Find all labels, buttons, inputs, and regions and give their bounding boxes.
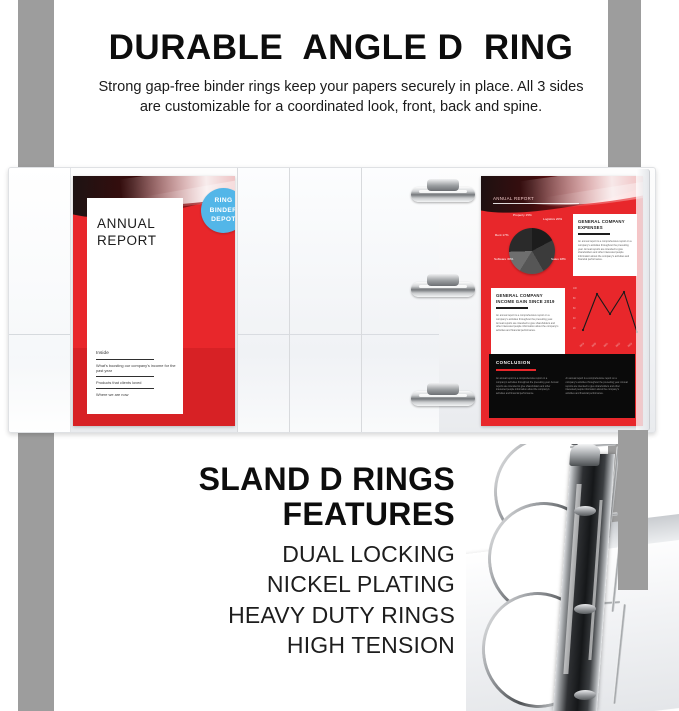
x-tick-label: 2020 [591, 342, 597, 348]
x-tick-label: 2023 [627, 342, 633, 348]
badge-line-2: BINDER [210, 206, 235, 216]
toc-rule [96, 388, 154, 389]
pie-slice-label: Rent 17% [495, 234, 509, 238]
info-page-eyebrow: ANNUAL REPORT [493, 196, 534, 201]
y-tick-label: 60 [573, 308, 576, 310]
feature-item: HEAVY DUTY RINGS [40, 600, 455, 630]
y-tick-label: 100 [573, 288, 577, 290]
features-list: DUAL LOCKING NICKEL PLATING HEAVY DUTY R… [40, 539, 455, 660]
cover-table-of-contents: Inside What's boosting our company's inc… [96, 350, 176, 397]
toc-item: What's boosting our company's income for… [96, 363, 176, 373]
headline-subtitle: Strong gap-free binder rings keep your p… [96, 77, 586, 118]
annual-report-cover: ANNUAL REPORT Inside What's boosting our… [73, 176, 235, 426]
d-ring-3 [407, 382, 479, 416]
badge-line-3: DEPOT [211, 215, 235, 225]
conclusion-heading: CONCLUSION [496, 360, 628, 365]
expenses-card-rule [578, 233, 610, 235]
toc-label: Inside [96, 350, 176, 356]
toc-rule [96, 359, 154, 360]
income-card-heading: GENERAL COMPANY INCOME GAIN SINCE 2019 [496, 293, 560, 304]
conclusion-rule [496, 369, 536, 371]
feature-item: HIGH TENSION [40, 630, 455, 660]
open-binder: ANNUAL REPORT Inside What's boosting our… [8, 167, 656, 433]
gray-bar-right-top [608, 0, 641, 128]
ring-binder-depot-badge: RING BINDER DEPOT [201, 188, 235, 233]
toc-rule [96, 376, 154, 377]
pie-slice-label: Property 15% [513, 214, 532, 218]
info-page-rule [493, 203, 579, 204]
y-tick-label: 40 [573, 318, 576, 320]
clear-spine-panel-2 [289, 168, 361, 432]
d-ring-2 [407, 273, 479, 307]
clear-overlay-pocket [9, 168, 71, 432]
y-tick-label: 80 [573, 298, 576, 300]
conclusion-block: CONCLUSION An annual report is a compreh… [489, 354, 635, 418]
feature-item: DUAL LOCKING [40, 539, 455, 569]
pie-graphic [509, 228, 555, 274]
ring-cap [427, 383, 459, 395]
line-chart-svg [579, 286, 643, 338]
feature-item: NICKEL PLATING [40, 569, 455, 599]
x-tick-label: 2021 [603, 342, 609, 348]
product-image: DURABLE ANGLE D RING Strong gap-free bin… [0, 0, 679, 711]
features-title-line-1: SLAND D RINGS [40, 462, 455, 497]
income-card-body: An annual report is a comprehensive repo… [496, 314, 560, 332]
expenses-card-heading: GENERAL COMPANY EXPENSES [578, 219, 632, 230]
d-ring-1 [407, 178, 479, 212]
binder-right-cover-edge [636, 169, 650, 431]
pie-slice-label: Logistics 20% [543, 218, 562, 222]
gray-bar-left-top [18, 0, 54, 170]
pie-slice-label: Software 30% [494, 258, 513, 262]
expenses-pie-chart: Property 15% Logistics 20% Sales 18% Sof… [495, 214, 567, 286]
income-card: GENERAL COMPANY INCOME GAIN SINCE 2019 A… [491, 288, 565, 354]
features-block: SLAND D RINGS FEATURES DUAL LOCKING NICK… [40, 462, 455, 661]
expenses-card-body: An annual report is a comprehensive repo… [578, 240, 632, 262]
expenses-card: GENERAL COMPANY EXPENSES An annual repor… [573, 214, 637, 276]
gray-bar-right-bottom [618, 430, 648, 590]
badge-line-1: RING [214, 196, 232, 206]
conclusion-column-2: An annual report is a comprehensive repo… [566, 377, 629, 395]
y-tick-label: 20 [573, 328, 576, 330]
gray-bar-right-mid [608, 128, 641, 170]
pie-slice-label: Sales 18% [551, 258, 566, 262]
ring-cap [427, 274, 459, 286]
headline-block: DURABLE ANGLE D RING Strong gap-free bin… [96, 30, 586, 118]
x-tick-label: 2022 [615, 342, 621, 348]
headline-title: DURABLE ANGLE D RING [96, 30, 586, 67]
cover-heading: ANNUAL REPORT [97, 216, 177, 250]
cover-white-panel: ANNUAL REPORT Inside What's boosting our… [87, 198, 183, 414]
conclusion-columns: An annual report is a comprehensive repo… [496, 377, 628, 395]
toc-item: Where we are now [96, 392, 176, 397]
infographic-page: ANNUAL REPORT Property 15% Logistics 20%… [481, 176, 643, 426]
income-line-chart: 100 80 60 40 20 2019 2020 2021 2022 2023 [573, 286, 637, 350]
income-card-rule [496, 307, 528, 309]
features-title-line-2: FEATURES [40, 497, 455, 532]
closeup-ring-spine-top [569, 444, 601, 466]
toc-item: Products that clients loved [96, 380, 176, 385]
conclusion-column-1: An annual report is a comprehensive repo… [496, 377, 559, 395]
x-tick-label: 2019 [579, 342, 585, 348]
clear-spine-panel-1 [237, 168, 289, 432]
ring-cap [427, 179, 459, 191]
d-ring-mechanism [407, 168, 479, 432]
